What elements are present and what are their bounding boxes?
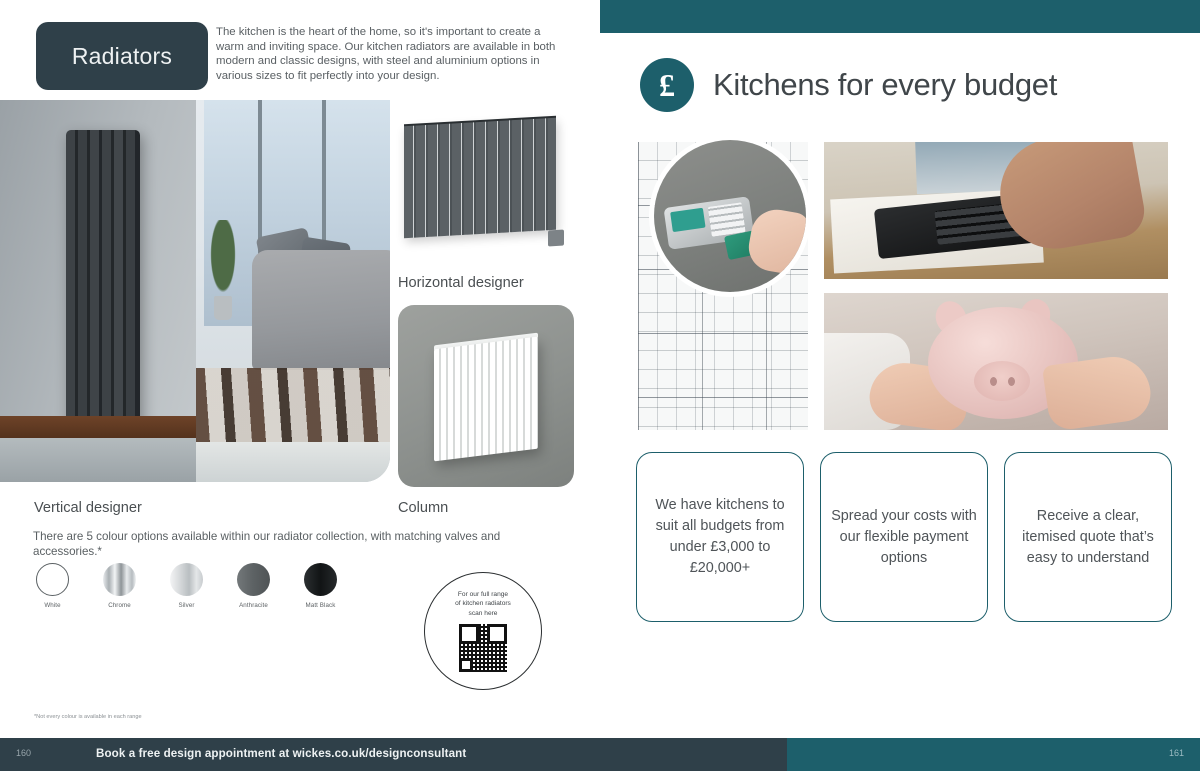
photo-hand <box>745 206 806 277</box>
footnote-text: *Not every colour is available in each r… <box>34 714 142 720</box>
swatch-dot-silver <box>170 563 203 596</box>
photo-terminal-screen <box>670 208 705 232</box>
card-payment-circular-photo <box>654 140 806 292</box>
photo-floor-right <box>196 442 390 482</box>
radiator-valve-shape <box>548 230 564 247</box>
photo-sofa <box>252 250 390 370</box>
pound-sterling-icon: £ <box>640 58 694 112</box>
left-page: Radiators The kitchen is the heart of th… <box>0 0 600 771</box>
photo-floor-left <box>0 438 196 482</box>
benefit-box-row: We have kitchens to suit all budgets fro… <box>636 452 1172 622</box>
budget-heading: Kitchens for every budget <box>713 67 1057 103</box>
photo-hand <box>1042 352 1154 430</box>
benefit-text: We have kitchens to suit all budgets fro… <box>647 495 793 579</box>
swatch-label: White <box>36 602 69 609</box>
benefit-box-payments: Spread your costs with our flexible paym… <box>820 452 988 622</box>
swatch-label: Matt Black <box>304 602 337 609</box>
magazine-spread: Radiators The kitchen is the heart of th… <box>0 0 1200 771</box>
swatch-label: Anthracite <box>237 602 270 609</box>
swatch-dot-matt-black <box>304 563 337 596</box>
page-number-right: 161 <box>1169 748 1184 758</box>
benefit-box-quote: Receive a clear, itemised quote that’s e… <box>1004 452 1172 622</box>
budget-image-collage <box>638 142 1168 430</box>
qr-finder-pattern <box>459 658 473 672</box>
top-teal-bar <box>600 0 1200 33</box>
swatch-dot-white <box>36 563 69 596</box>
swatch-anthracite[interactable]: Anthracite <box>237 563 270 609</box>
photo-plant <box>206 220 240 306</box>
photo-plant-pot <box>214 296 232 320</box>
page-footer: 160 Book a free design appointment at wi… <box>0 738 1200 771</box>
horizontal-designer-photo <box>398 110 578 255</box>
benefit-text: Spread your costs with our flexible paym… <box>831 506 977 569</box>
benefit-box-budgets: We have kitchens to suit all budgets fro… <box>636 452 804 622</box>
qr-code-icon[interactable] <box>459 624 507 672</box>
label-vertical-designer: Vertical designer <box>34 500 142 516</box>
photo-piggy-nostril <box>990 377 997 386</box>
swatch-chrome[interactable]: Chrome <box>103 563 136 609</box>
vertical-radiator-shape <box>66 130 140 430</box>
swatch-silver[interactable]: Silver <box>170 563 203 609</box>
photo-rug <box>196 368 390 444</box>
horizontal-radiator-shape <box>404 118 556 238</box>
label-horizontal-designer: Horizontal designer <box>398 275 524 291</box>
footer-cta-text[interactable]: Book a free design appointment at wickes… <box>96 747 466 760</box>
qr-scan-badge[interactable]: For our full range of kitchen radiators … <box>424 572 542 690</box>
budget-heading-group: £ Kitchens for every budget <box>640 58 1057 112</box>
piggy-bank-photo <box>824 293 1168 430</box>
swatch-label: Chrome <box>103 602 136 609</box>
label-column: Column <box>398 500 448 516</box>
pound-glyph: £ <box>659 69 675 101</box>
footer-teal-band <box>787 738 1200 771</box>
qr-badge-line-2: of kitchen radiators <box>455 599 511 608</box>
swatch-dot-anthracite <box>237 563 270 596</box>
photo-skirting <box>0 416 196 438</box>
swatch-matt-black[interactable]: Matt Black <box>304 563 337 609</box>
colour-swatch-list: White Chrome Silver Anthracite Matt Blac… <box>36 563 337 609</box>
swatch-label: Silver <box>170 602 203 609</box>
qr-badge-line-3: scan here <box>469 609 498 618</box>
benefit-text: Receive a clear, itemised quote that’s e… <box>1015 506 1161 569</box>
right-page: £ Kitchens for every budget <box>600 0 1200 771</box>
photo-terminal-keypad <box>708 202 746 236</box>
calculator-photo <box>824 142 1168 279</box>
column-radiator-photo <box>398 305 574 487</box>
column-radiator-shape <box>434 337 538 462</box>
photo-piggy-nostril <box>1008 377 1015 386</box>
qr-badge-line-1: For our full range <box>458 590 508 599</box>
page-title-chip: Radiators <box>36 22 208 90</box>
page-number-left: 160 <box>16 748 31 758</box>
swatch-white[interactable]: White <box>36 563 69 609</box>
swatch-intro-text: There are 5 colour options available wit… <box>33 529 503 559</box>
photo-room-right <box>196 100 390 482</box>
swatch-dot-chrome <box>103 563 136 596</box>
page-title: Radiators <box>72 43 172 70</box>
photo-piggy-snout <box>974 361 1030 401</box>
vertical-designer-room-photo <box>0 100 390 482</box>
intro-paragraph: The kitchen is the heart of the home, so… <box>216 25 556 83</box>
